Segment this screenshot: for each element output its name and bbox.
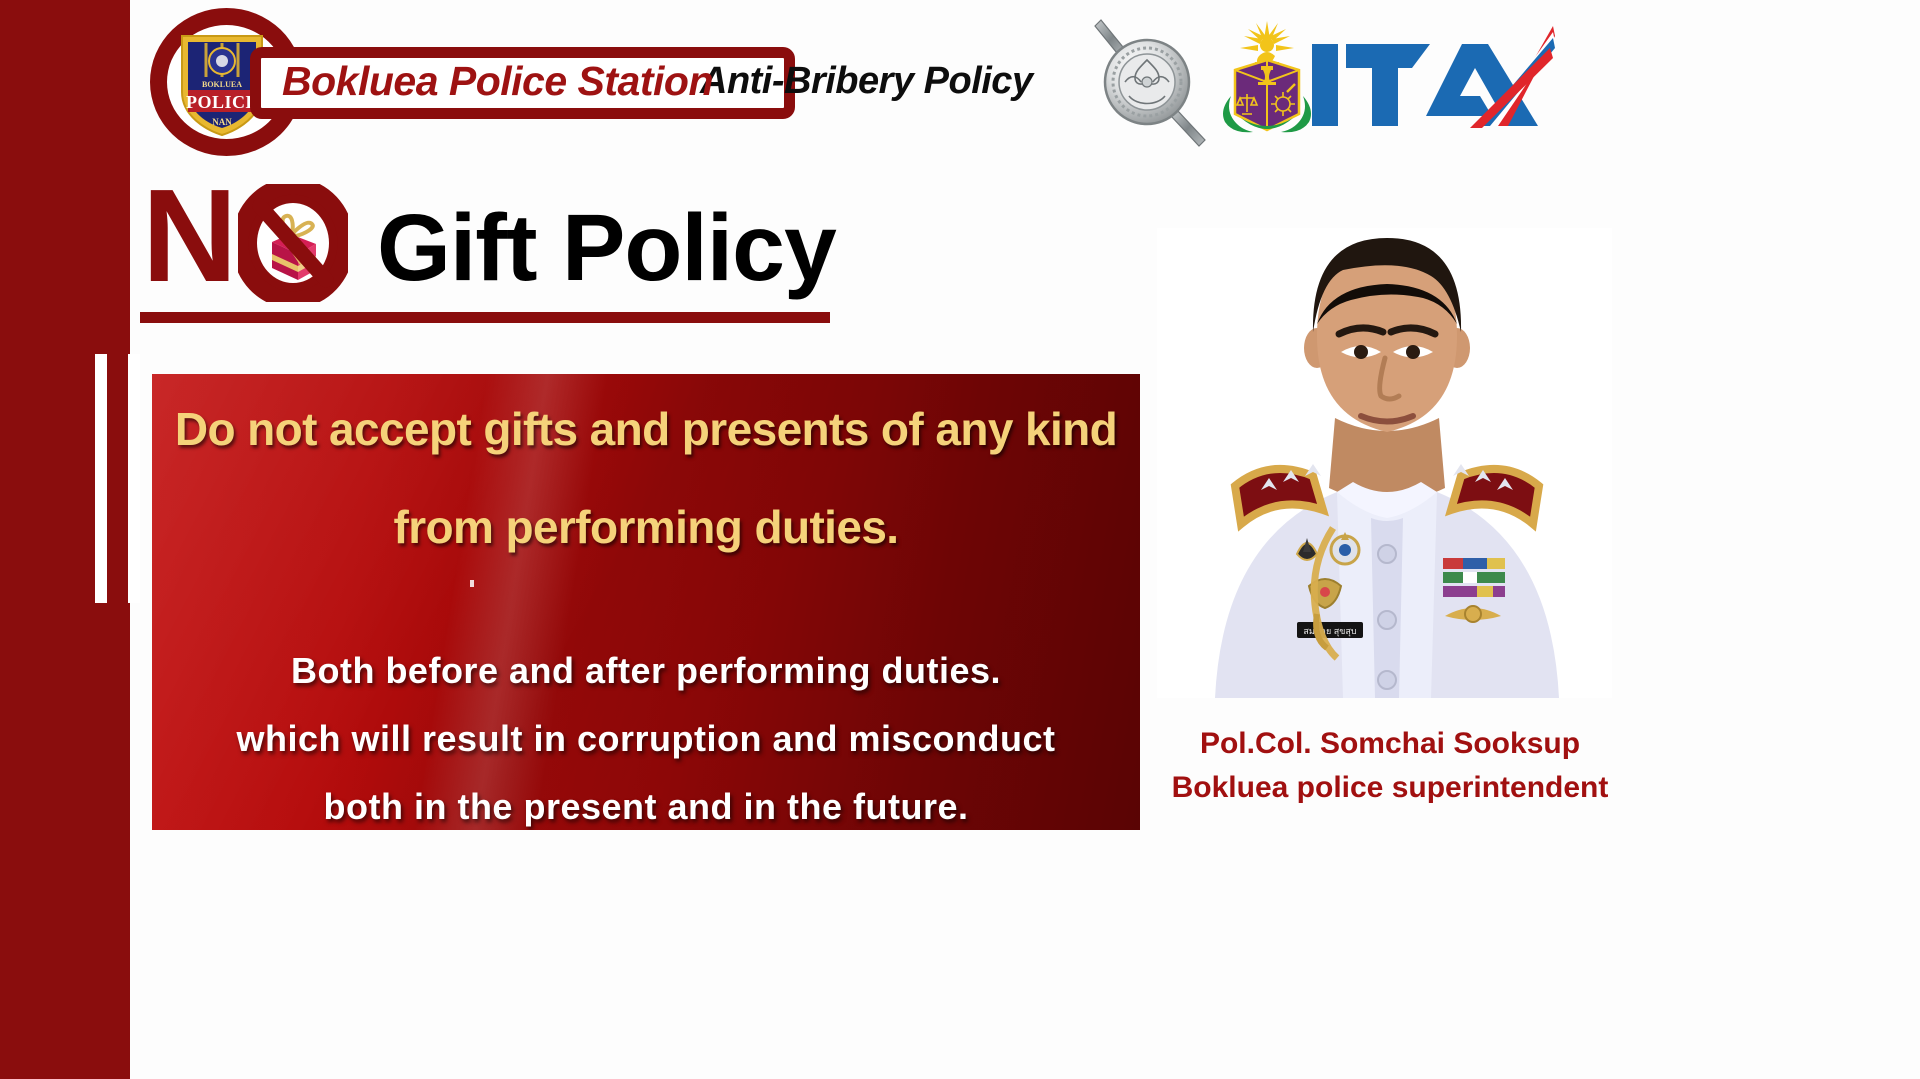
poster-header: BOKLUEA POLICE NAN Bokluea Police Statio…: [130, 0, 1920, 165]
thai-royal-silver-seal-icon: [1075, 12, 1215, 152]
panel-speck: [470, 580, 474, 587]
officer-portrait-photo: สมชาย สุขสุบ: [1157, 228, 1612, 698]
title-letter-n: N: [142, 168, 234, 304]
white-message-line-2: which will result in corruption and misc…: [152, 718, 1140, 760]
no-gift-policy-title: N Gift Policy: [130, 168, 1030, 318]
gold-message-line-1: Do not accept gifts and presents of any …: [152, 402, 1140, 456]
policy-message-panel: Do not accept gifts and presents of any …: [152, 374, 1140, 830]
title-gift-policy-label: Gift Policy: [377, 198, 836, 298]
officer-role-label: Bokluea police superintendent: [1140, 766, 1640, 810]
white-message-line-1: Both before and after performing duties.: [152, 650, 1140, 692]
station-name-label: Bokluea Police Station: [282, 58, 802, 105]
svg-text:NAN: NAN: [212, 117, 232, 127]
svg-text:POLICE: POLICE: [186, 92, 258, 112]
white-message-line-3: both in the present and in the future.: [152, 786, 1140, 828]
no-gift-icon: [238, 184, 348, 302]
title-underline-rule: [140, 312, 830, 323]
officer-caption: Pol.Col. Somchai Sooksup Bokluea police …: [1140, 722, 1640, 810]
gold-message-line-2: from performing duties.: [152, 500, 1140, 554]
left-white-accent-outer: [95, 354, 107, 603]
svg-text:BOKLUEA: BOKLUEA: [202, 80, 242, 89]
ita-logo-icon: [1310, 22, 1555, 140]
left-white-accent-inner: [128, 354, 140, 603]
left-decorative-band: [0, 0, 130, 1079]
svg-text:สมชาย สุขสุบ: สมชาย สุขสุบ: [1303, 626, 1357, 637]
poster-canvas: BOKLUEA POLICE NAN Bokluea Police Statio…: [0, 0, 1920, 1079]
officer-name-label: Pol.Col. Somchai Sooksup: [1140, 722, 1640, 766]
nacc-emblem-icon: [1215, 18, 1320, 146]
